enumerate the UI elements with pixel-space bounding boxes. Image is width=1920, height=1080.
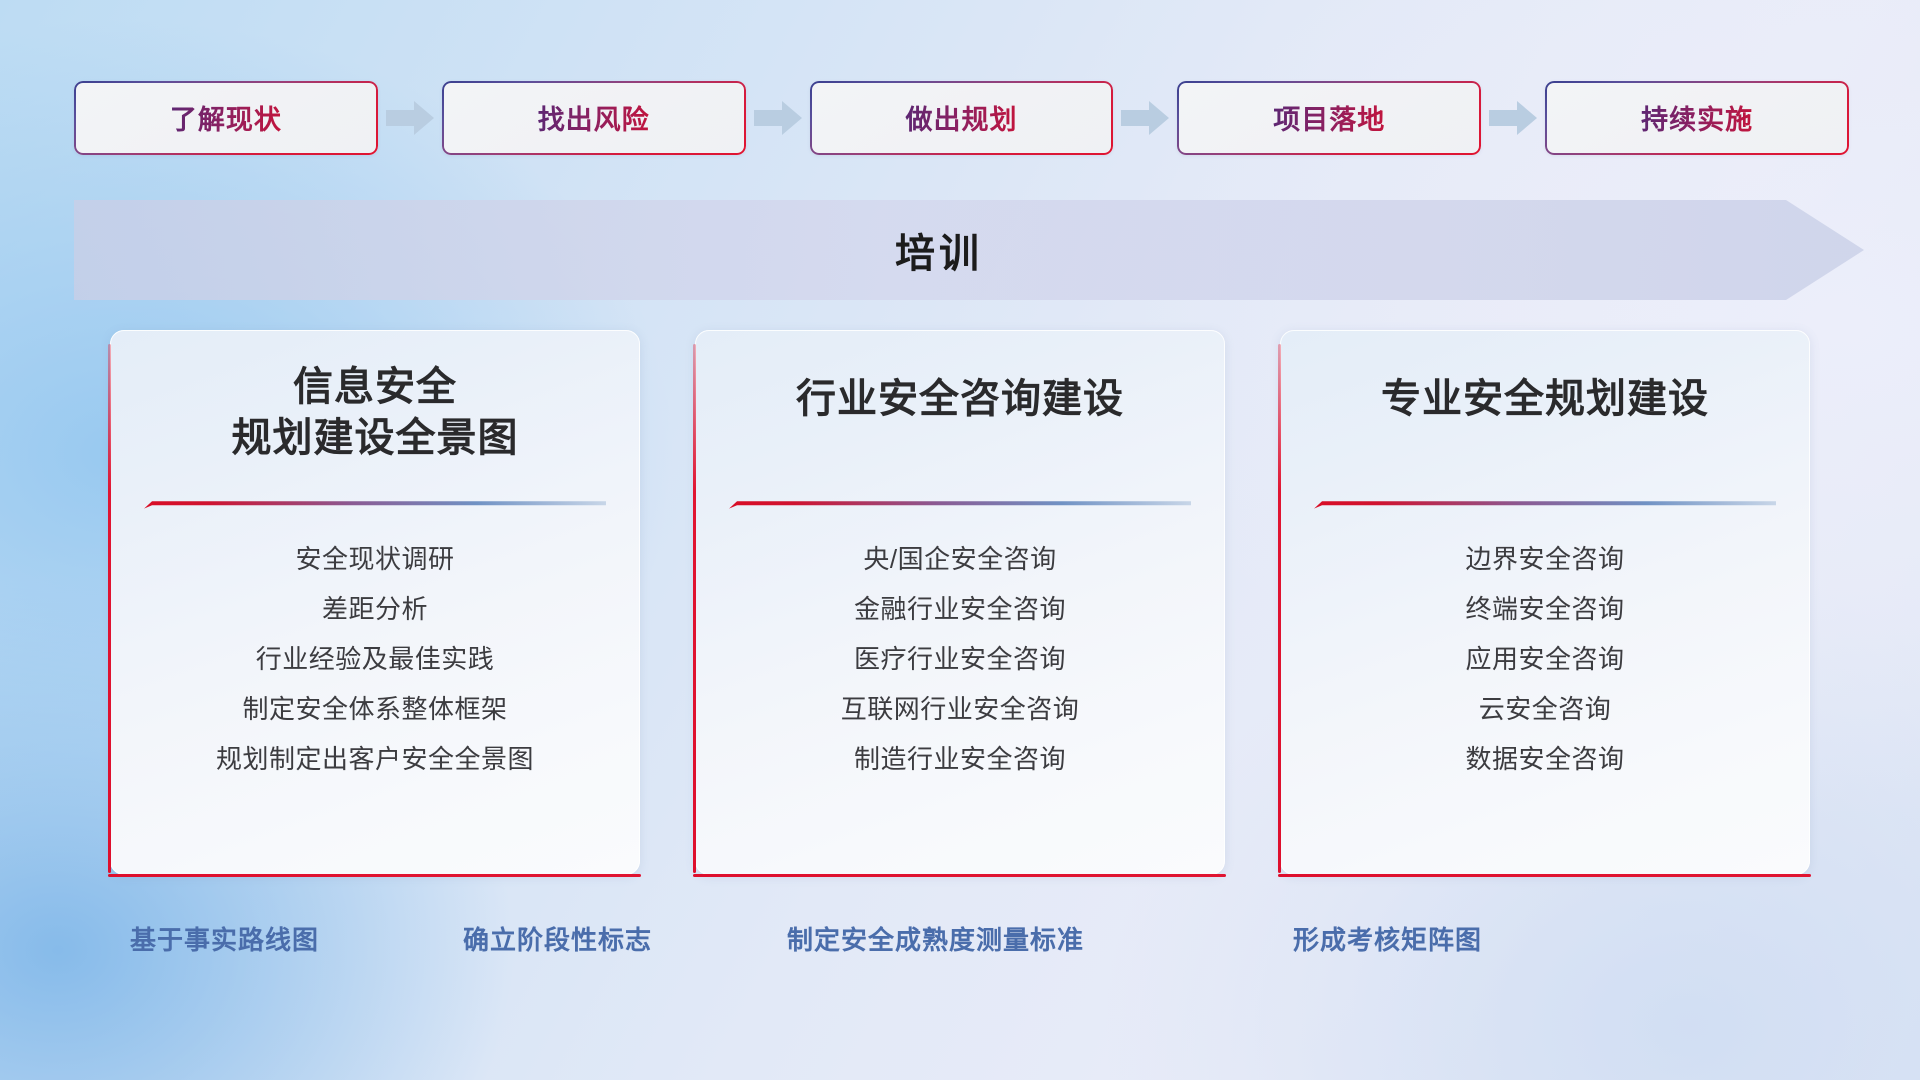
card-divider — [144, 500, 606, 509]
step-box-1[interactable]: 了解现状 — [74, 81, 378, 155]
card-title-line: 规划建设全景图 — [136, 413, 614, 464]
list-item: 应用安全咨询 — [1465, 640, 1624, 679]
card-title: 专业安全规划建设 — [1280, 374, 1810, 425]
step-label-1: 了解现状 — [74, 81, 378, 155]
card-professional-security-planning[interactable]: 专业安全规划建设 边界安全咨询 终端安全咨询 应用安全咨询 云安全咨询 数据安全… — [1280, 330, 1810, 875]
card-divider — [729, 500, 1191, 509]
card-title-line: 信息安全 — [136, 362, 614, 413]
list-item: 金融行业安全咨询 — [854, 590, 1066, 629]
step-box-3[interactable]: 做出规划 — [810, 81, 1114, 155]
card-list: 边界安全咨询 终端安全咨询 应用安全咨询 云安全咨询 数据安全咨询 — [1280, 540, 1810, 779]
list-item: 数据安全咨询 — [1465, 740, 1624, 779]
list-item: 互联网行业安全咨询 — [841, 690, 1080, 729]
list-item: 规划制定出客户安全全景图 — [216, 740, 534, 779]
footnote-3: 制定安全成熟度测量标准 — [787, 920, 1084, 957]
list-item: 终端安全咨询 — [1465, 590, 1624, 629]
arrow-right-icon — [1119, 98, 1171, 138]
card-accent-bottom — [108, 874, 641, 878]
process-steps: 了解现状 找出风险 做出规划 项目落地 持续实施 — [74, 80, 1849, 155]
training-banner: 培训 — [74, 200, 1864, 300]
list-item: 差距分析 — [322, 590, 428, 629]
card-divider — [1314, 500, 1776, 509]
list-item: 云安全咨询 — [1479, 690, 1612, 729]
card-industry-security-consulting[interactable]: 行业安全咨询建设 央/国企安全咨询 金融行业安全咨询 医疗行业安全咨询 互联网行… — [695, 330, 1225, 875]
card-accent-bottom — [1278, 874, 1811, 878]
card-list: 安全现状调研 差距分析 行业经验及最佳实践 制定安全体系整体框架 规划制定出客户… — [110, 540, 640, 779]
step-box-4[interactable]: 项目落地 — [1177, 81, 1481, 155]
card-title: 信息安全 规划建设全景图 — [110, 362, 640, 464]
step-box-5[interactable]: 持续实施 — [1545, 81, 1849, 155]
card-accent-bottom — [693, 874, 1226, 878]
list-item: 制定安全体系整体框架 — [242, 690, 507, 729]
list-item: 医疗行业安全咨询 — [854, 640, 1066, 679]
footnote-2: 确立阶段性标志 — [463, 920, 652, 957]
step-label-3: 做出规划 — [810, 81, 1114, 155]
footnote-4: 形成考核矩阵图 — [1293, 920, 1482, 957]
banner-title: 培训 — [74, 200, 1864, 300]
card-title-line: 专业安全规划建设 — [1306, 374, 1784, 425]
step-label-4: 项目落地 — [1177, 81, 1481, 155]
list-item: 行业经验及最佳实践 — [256, 640, 495, 679]
card-list: 央/国企安全咨询 金融行业安全咨询 医疗行业安全咨询 互联网行业安全咨询 制造行… — [695, 540, 1225, 779]
step-box-2[interactable]: 找出风险 — [442, 81, 746, 155]
service-cards: 信息安全 规划建设全景图 安全现状调研 差距分析 行业经验及最佳实践 制定安全体… — [110, 330, 1810, 875]
card-title-line: 行业安全咨询建设 — [721, 374, 1199, 425]
card-information-security-blueprint[interactable]: 信息安全 规划建设全景图 安全现状调研 差距分析 行业经验及最佳实践 制定安全体… — [110, 330, 640, 875]
card-title: 行业安全咨询建设 — [695, 374, 1225, 425]
list-item: 安全现状调研 — [295, 540, 454, 579]
arrow-right-icon — [752, 98, 804, 138]
step-label-5: 持续实施 — [1545, 81, 1849, 155]
step-label-2: 找出风险 — [442, 81, 746, 155]
list-item: 央/国企安全咨询 — [863, 540, 1056, 579]
footnotes: 基于事实路线图 确立阶段性标志 制定安全成熟度测量标准 形成考核矩阵图 — [0, 920, 1920, 970]
arrow-right-icon — [1487, 98, 1539, 138]
arrow-right-icon — [384, 98, 436, 138]
list-item: 制造行业安全咨询 — [854, 740, 1066, 779]
footnote-1: 基于事实路线图 — [130, 920, 319, 957]
list-item: 边界安全咨询 — [1465, 540, 1624, 579]
